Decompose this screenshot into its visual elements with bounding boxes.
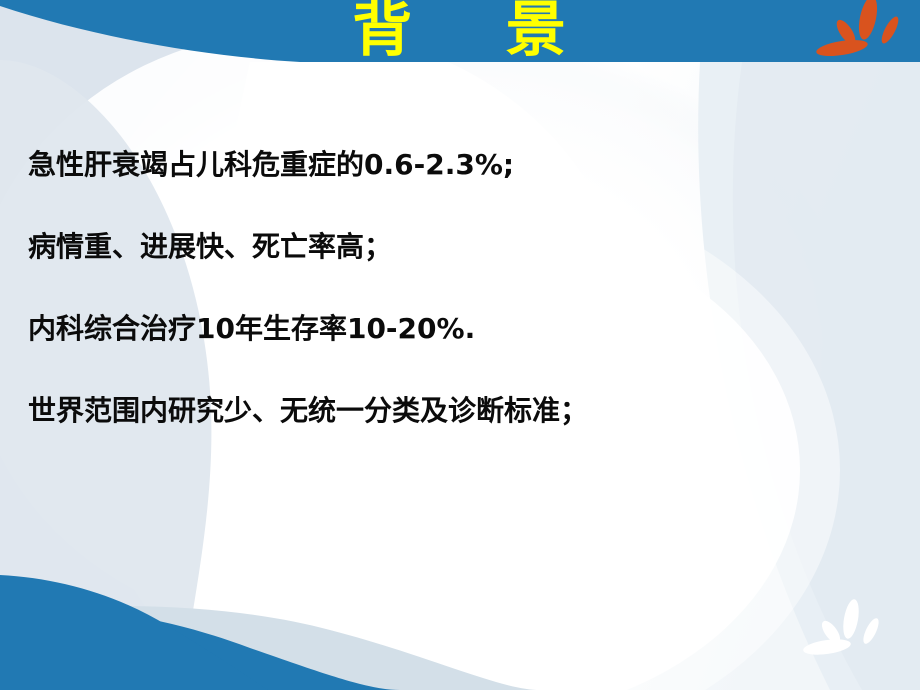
body-line-3: 内科综合治疗10年生存率10-20%.: [28, 312, 858, 346]
body-line-4: 世界范围内研究少、无统一分类及诊断标准；: [28, 394, 858, 428]
slide-canvas: 背 景 急性肝衰竭占儿科危重症的0.6-2.3%; 病情重、进展快、死亡率高； …: [0, 0, 920, 690]
body-line-1: 急性肝衰竭占儿科危重症的0.6-2.3%;: [28, 148, 858, 182]
slide-body: 急性肝衰竭占儿科危重症的0.6-2.3%; 病情重、进展快、死亡率高； 内科综合…: [28, 148, 858, 428]
body-line-2: 病情重、进展快、死亡率高；: [28, 230, 858, 264]
